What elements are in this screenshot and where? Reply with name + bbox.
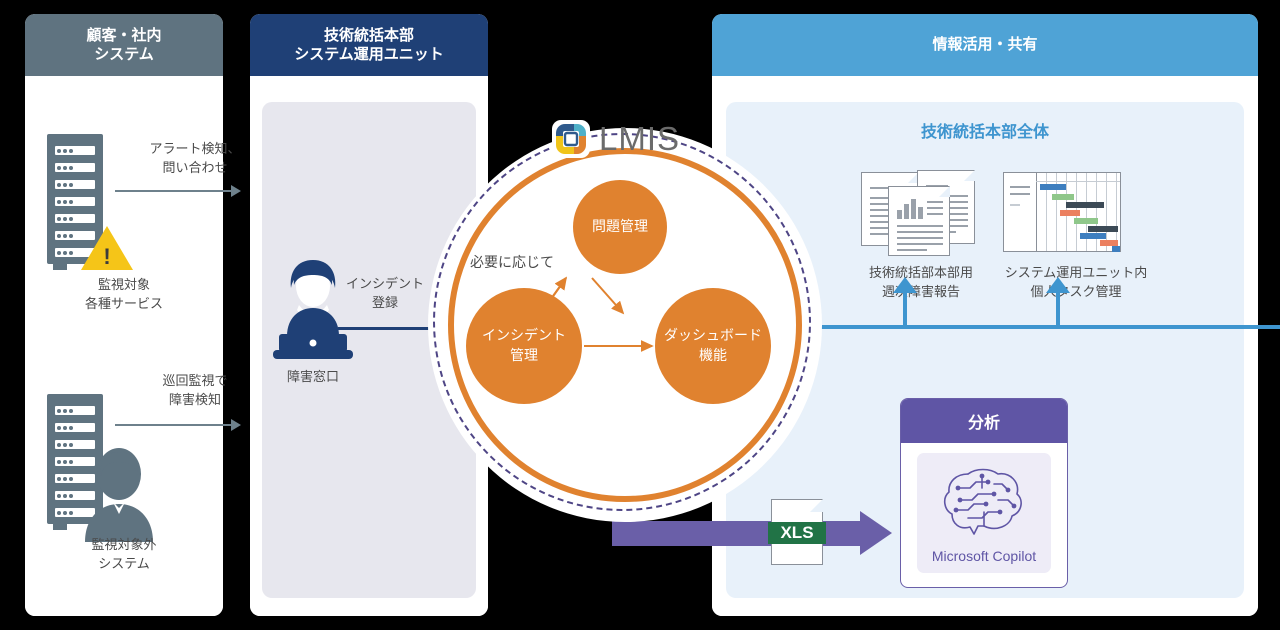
copilot-product-label: Microsoft Copilot xyxy=(932,548,1036,564)
panel-unit-title-line2: システム運用ユニット xyxy=(294,45,444,64)
problem-management-node[interactable]: 問題管理 xyxy=(573,180,667,274)
failure-desk-caption: 障害窓口 xyxy=(258,368,368,387)
panel-customer-systems: 顧客・社内 システム ! 監視対象 各種サービス xyxy=(25,14,223,616)
patrol-detection-label: 巡回監視で 障害検知 xyxy=(140,372,250,410)
lmis-wordmark: LMIS xyxy=(599,120,680,158)
dashboard-node[interactable]: ダッシュボード 機能 xyxy=(655,288,771,404)
lmis-square-icon xyxy=(552,120,590,158)
brain-circuit-icon xyxy=(938,462,1030,546)
alert-detection-label: アラート検知、 問い合わせ xyxy=(140,140,250,178)
dashboard-share-branch-report xyxy=(903,292,907,329)
dashboard-share-branch-task xyxy=(1056,292,1060,329)
xls-file-icon: XLS xyxy=(771,499,823,565)
as-needed-annotation: 必要に応じて xyxy=(470,252,554,272)
panel-customer-header: 顧客・社内 システム xyxy=(25,14,223,76)
analysis-card-header: 分析 xyxy=(901,399,1067,443)
gantt-chart-icon xyxy=(1003,172,1121,252)
xls-export-arrowhead xyxy=(860,511,892,555)
dashboard-share-report-arrowhead xyxy=(893,277,917,293)
panel-customer-title-line1: 顧客・社内 xyxy=(86,26,161,45)
documents-icon xyxy=(861,170,981,256)
info-section-title: 技術統括本部全体 xyxy=(726,118,1244,142)
panel-customer-title-line2: システム xyxy=(86,45,161,64)
analysis-card[interactable]: 分析 xyxy=(900,398,1068,588)
unmonitored-system-caption: 監視対象外 システム xyxy=(25,536,223,574)
warning-exclamation-icon: ! xyxy=(97,244,117,270)
analysis-card-body: Microsoft Copilot xyxy=(917,453,1051,573)
patrol-detection-arrowhead xyxy=(231,419,241,431)
panel-info-header: 情報活用・共有 xyxy=(712,14,1258,76)
diagram-canvas: 顧客・社内 システム ! 監視対象 各種サービス xyxy=(0,0,1280,630)
personal-task-management-caption: システム運用ユニット内 個人タスク管理 xyxy=(966,264,1186,302)
dashboard-share-trunk xyxy=(760,325,1280,329)
alert-detection-arrowhead xyxy=(231,185,241,197)
person-icon xyxy=(77,446,161,542)
xls-file-label: XLS xyxy=(768,522,826,544)
dashboard-share-task-arrowhead xyxy=(1046,277,1070,293)
panel-unit-title-line1: 技術統括本部 xyxy=(294,26,444,45)
monitored-services-caption: 監視対象 各種サービス xyxy=(25,276,223,314)
incident-registration-label: インシデント 登録 xyxy=(330,275,440,313)
panel-unit-header: 技術統括本部 システム運用ユニット xyxy=(250,14,488,76)
alert-detection-arrow xyxy=(115,190,233,192)
lmis-logo: LMIS xyxy=(552,120,680,158)
panel-info-title: 情報活用・共有 xyxy=(932,35,1037,54)
incident-management-node[interactable]: インシデント 管理 xyxy=(466,288,582,404)
patrol-detection-arrow xyxy=(115,424,233,426)
